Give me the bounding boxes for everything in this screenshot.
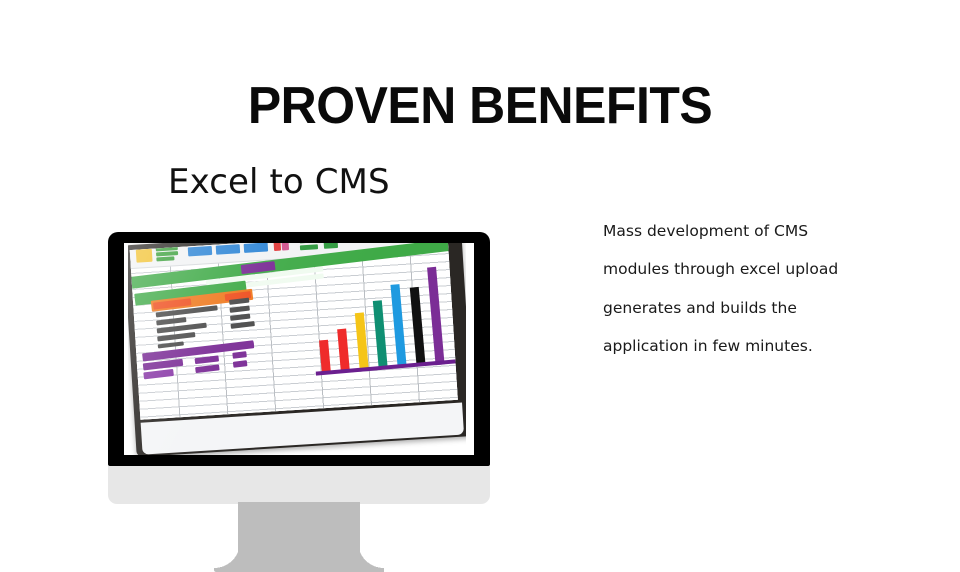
bar-4 bbox=[373, 300, 388, 369]
green-label-3 bbox=[156, 256, 174, 261]
pink-chip bbox=[282, 243, 290, 251]
blue-button-2 bbox=[216, 244, 241, 254]
monitor-chin bbox=[108, 466, 490, 504]
subtitle-heading: Excel to CMS bbox=[168, 160, 390, 204]
bar-chart bbox=[309, 253, 458, 384]
red-chip bbox=[274, 243, 282, 251]
spreadsheet-surface bbox=[130, 243, 458, 420]
blue-button-1 bbox=[188, 246, 213, 256]
photo-right-margin bbox=[466, 243, 474, 455]
slide-canvas: PROVEN BENEFITS Excel to CMS Mass develo… bbox=[0, 0, 960, 540]
green-chip-2 bbox=[300, 244, 318, 250]
page-title: PROVEN BENEFITS bbox=[19, 77, 941, 135]
tablet-frame bbox=[128, 243, 474, 455]
yellow-cell bbox=[136, 249, 153, 263]
bar-3 bbox=[355, 313, 369, 370]
bar-2 bbox=[337, 329, 350, 371]
monitor-illustration bbox=[108, 232, 490, 540]
green-chip-3 bbox=[323, 243, 338, 249]
bar-7 bbox=[427, 266, 445, 365]
monitor-stand bbox=[238, 502, 360, 572]
bar-6 bbox=[410, 287, 426, 367]
green-label-2 bbox=[156, 251, 178, 256]
blue-button-3 bbox=[244, 243, 269, 253]
body-paragraph: Mass development of CMS modules through … bbox=[603, 212, 865, 366]
spreadsheet-photo bbox=[128, 243, 474, 455]
bar-1 bbox=[319, 340, 331, 373]
tablet-screen bbox=[130, 243, 458, 420]
bar-5 bbox=[390, 284, 406, 368]
monitor-screen bbox=[124, 243, 474, 455]
